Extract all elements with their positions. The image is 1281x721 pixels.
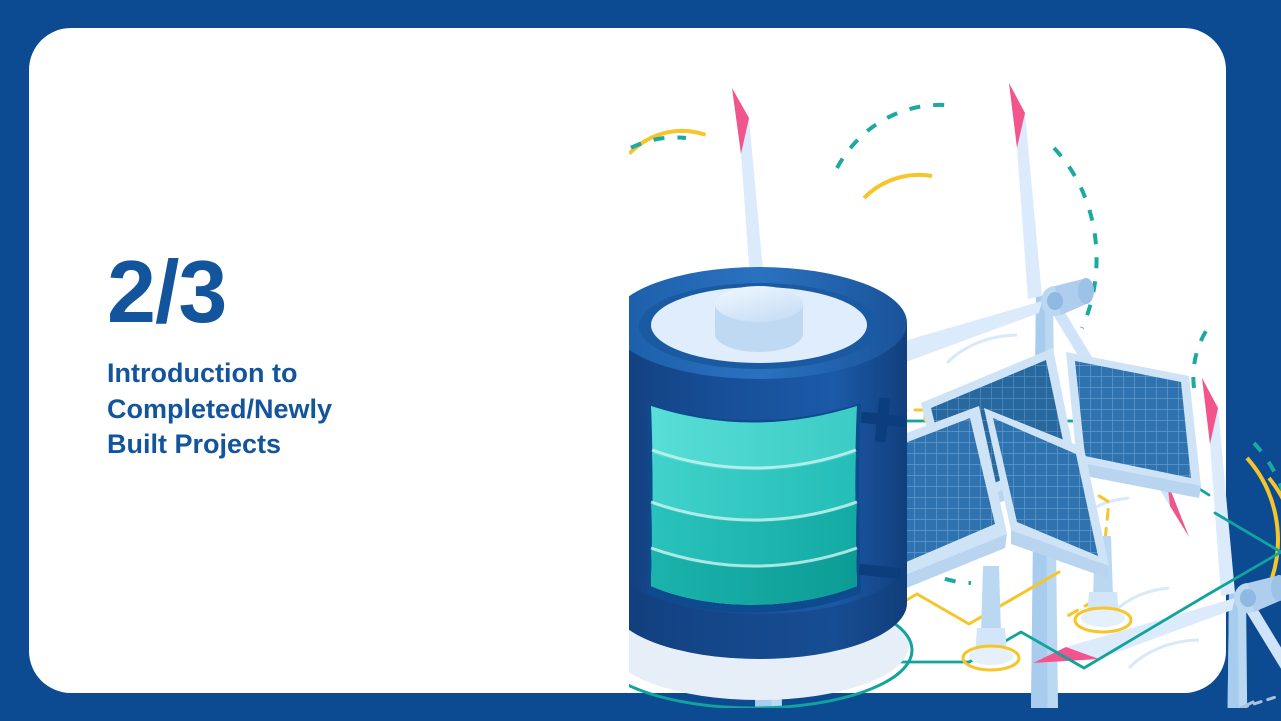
scene [629, 83, 1281, 708]
page-title: Introduction to Completed/Newly Built Pr… [107, 356, 387, 464]
slide-white-panel: 2/3 Introduction to Completed/Newly Buil… [29, 28, 1226, 693]
slide-canvas: 2/3 Introduction to Completed/Newly Buil… [0, 0, 1281, 721]
slide-text-block: 2/3 Introduction to Completed/Newly Buil… [107, 250, 527, 463]
renewable-energy-illustration [629, 58, 1281, 708]
battery [629, 267, 912, 708]
battery-charge-window [647, 403, 861, 613]
slide-number: 2/3 [107, 250, 527, 334]
